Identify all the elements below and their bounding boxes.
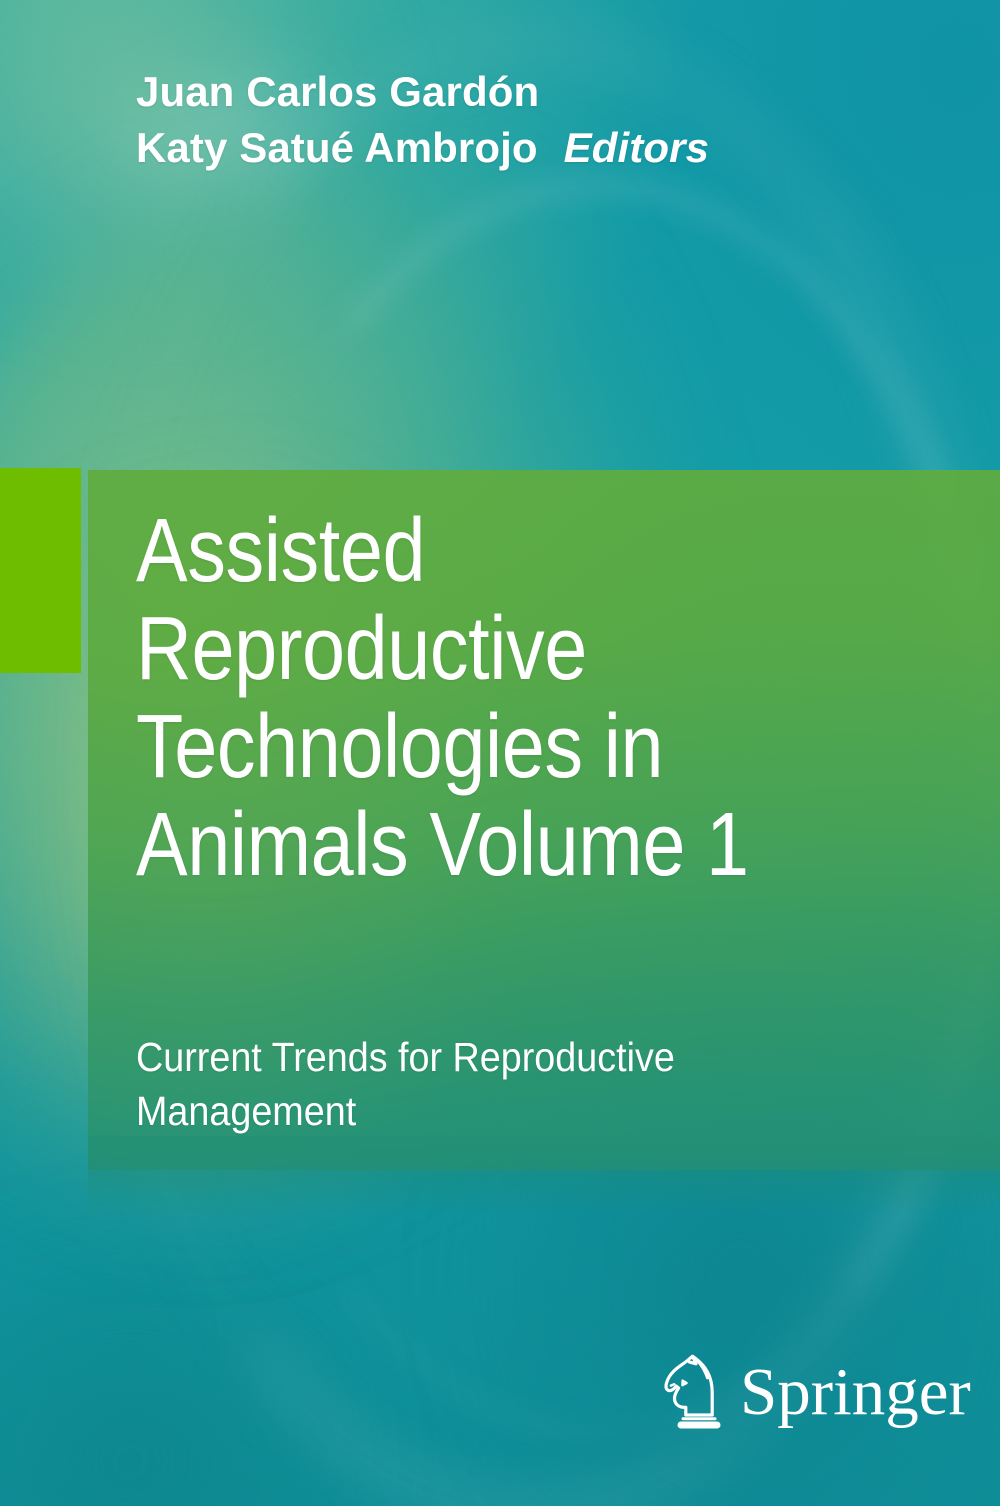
- title-line-1: Assisted: [136, 502, 858, 600]
- book-subtitle: Current Trends for Reproductive Manageme…: [136, 1030, 854, 1138]
- springer-wordmark: Springer: [740, 1359, 971, 1430]
- book-cover: Juan Carlos Gardón Katy Satué AmbrojoEdi…: [0, 0, 1000, 1506]
- editor-name-2-row: Katy Satué AmbrojoEditors: [136, 120, 936, 176]
- title-line-2: Reproductive: [136, 600, 858, 698]
- lime-accent-block: [0, 468, 81, 673]
- editors-role-label: Editors: [564, 124, 709, 171]
- editor-name-1: Juan Carlos Gardón: [136, 64, 936, 120]
- title-line-3: Technologies in: [136, 698, 858, 796]
- page-title: Assisted Reproductive Technologies in An…: [136, 502, 976, 894]
- editors-block: Juan Carlos Gardón Katy Satué AmbrojoEdi…: [136, 64, 936, 177]
- editor-name-2: Katy Satué Ambrojo: [136, 124, 538, 171]
- title-line-4: Animals Volume 1: [136, 796, 858, 894]
- subtitle-line-1: Current Trends for Reproductive: [136, 1030, 854, 1084]
- springer-knight-icon: [662, 1352, 724, 1436]
- subtitle-line-2: Management: [136, 1084, 854, 1138]
- book-title: Assisted Reproductive Technologies in An…: [136, 502, 858, 894]
- publisher-logo: Springer: [662, 1352, 971, 1436]
